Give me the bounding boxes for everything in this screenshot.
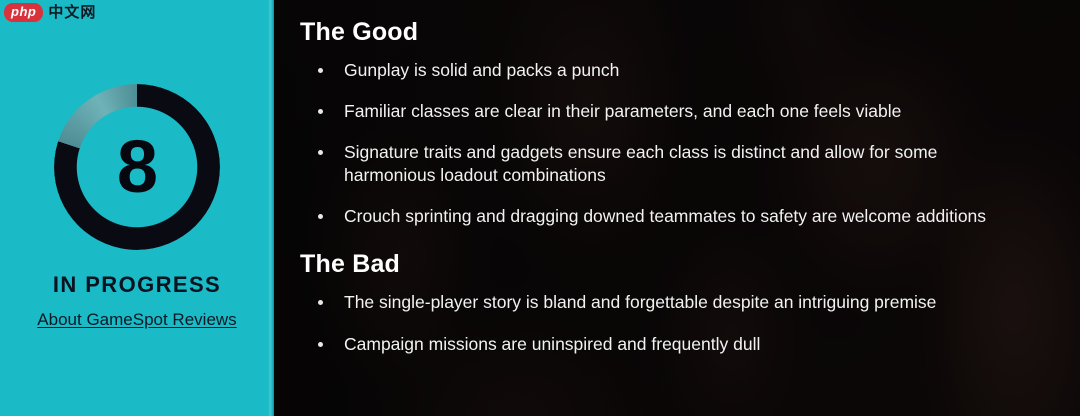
list-item-text: The single-player story is bland and for…	[344, 292, 936, 312]
list-item-text: Gunplay is solid and packs a punch	[344, 60, 619, 80]
review-verdict-card: php 中文网 8 IN PROGRESS About GameSpot Rev…	[0, 0, 1080, 416]
the-good-heading: The Good	[300, 18, 1052, 47]
score-ring: 8	[54, 84, 220, 250]
bullet-icon	[318, 342, 323, 347]
list-item-text: Crouch sprinting and dragging downed tea…	[344, 206, 986, 226]
list-item: The single-player story is bland and for…	[318, 291, 1018, 314]
list-item: Signature traits and gadgets ensure each…	[318, 141, 1018, 187]
list-item-text: Signature traits and gadgets ensure each…	[344, 142, 937, 185]
watermark: php 中文网	[4, 3, 96, 22]
score-value: 8	[54, 84, 220, 250]
the-bad-heading: The Bad	[300, 250, 1052, 279]
the-good-section: The Good Gunplay is solid and packs a pu…	[300, 18, 1052, 228]
the-good-list: Gunplay is solid and packs a punch Famil…	[300, 59, 1052, 228]
about-gamespot-reviews-link[interactable]: About GameSpot Reviews	[37, 310, 236, 330]
bullet-icon	[318, 68, 323, 73]
bullet-icon	[318, 109, 323, 114]
watermark-site-label: 中文网	[48, 5, 96, 20]
list-item: Crouch sprinting and dragging downed tea…	[318, 205, 1018, 228]
list-item: Campaign missions are uninspired and fre…	[318, 333, 1018, 356]
php-logo-icon: php	[4, 3, 43, 22]
bullet-icon	[318, 214, 323, 219]
bullet-icon	[318, 300, 323, 305]
score-status-label: IN PROGRESS	[53, 272, 221, 298]
list-item: Familiar classes are clear in their para…	[318, 100, 1018, 123]
bullet-icon	[318, 150, 323, 155]
list-item-text: Campaign missions are uninspired and fre…	[344, 334, 760, 354]
the-bad-section: The Bad The single-player story is bland…	[300, 250, 1052, 355]
list-item-text: Familiar classes are clear in their para…	[344, 101, 901, 121]
list-item: Gunplay is solid and packs a punch	[318, 59, 1018, 82]
review-points-panel: The Good Gunplay is solid and packs a pu…	[274, 0, 1080, 416]
the-bad-list: The single-player story is bland and for…	[300, 291, 1052, 355]
score-panel: php 中文网 8 IN PROGRESS About GameSpot Rev…	[0, 0, 274, 416]
